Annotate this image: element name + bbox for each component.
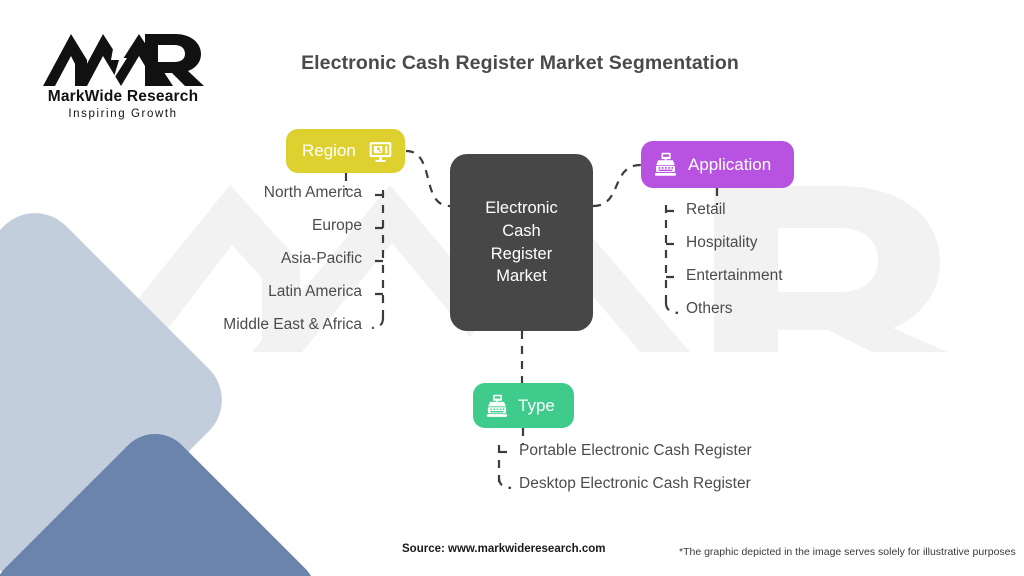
list-item: Desktop Electronic Cash Register xyxy=(519,475,751,493)
center-node: Electronic Cash Register Market xyxy=(450,154,593,331)
list-item: Middle East & Africa xyxy=(223,316,362,334)
cash-register-icon xyxy=(484,393,510,419)
cash-register-icon xyxy=(652,151,679,178)
footer-source: Source: www.markwideresearch.com xyxy=(402,543,605,555)
branch-badge-application[interactable]: Application xyxy=(641,141,794,188)
connector-type-last-stub xyxy=(499,478,511,488)
list-item: Entertainment xyxy=(686,267,783,285)
brand-tagline: Inspiring Growth xyxy=(18,108,228,120)
branch-badge-type[interactable]: Type xyxy=(473,383,574,428)
connector-region-last-stub xyxy=(372,318,383,328)
list-item: Europe xyxy=(312,217,362,235)
list-item: Retail xyxy=(686,201,726,219)
list-item: Others xyxy=(686,300,733,318)
list-item: Hospitality xyxy=(686,234,758,252)
logo-mark-icon xyxy=(41,28,206,90)
list-item: Asia-Pacific xyxy=(281,250,362,268)
connector-center-to-application xyxy=(593,165,641,206)
branch-badge-region-label: Region xyxy=(302,141,356,161)
connector-region-to-center xyxy=(406,151,450,206)
monitor-register-icon xyxy=(368,139,393,164)
list-item: Portable Electronic Cash Register xyxy=(519,442,752,460)
connector-region-stubs xyxy=(370,195,383,294)
center-node-label: Electronic Cash Register Market xyxy=(485,197,557,288)
list-item: Latin America xyxy=(268,283,362,301)
branch-badge-region[interactable]: Region xyxy=(286,129,405,173)
page-title: Electronic Cash Register Market Segmenta… xyxy=(250,52,790,75)
branch-badge-type-label: Type xyxy=(518,396,555,416)
connector-application-stubs xyxy=(666,211,679,277)
list-item: North America xyxy=(264,184,362,202)
brand-logo: MarkWide Research Inspiring Growth xyxy=(18,28,228,128)
connector-application-last-stub xyxy=(666,303,678,313)
footer-disclaimer: *The graphic depicted in the image serve… xyxy=(679,546,1016,558)
brand-name: MarkWide Research xyxy=(18,88,228,106)
branch-badge-application-label: Application xyxy=(688,155,771,175)
